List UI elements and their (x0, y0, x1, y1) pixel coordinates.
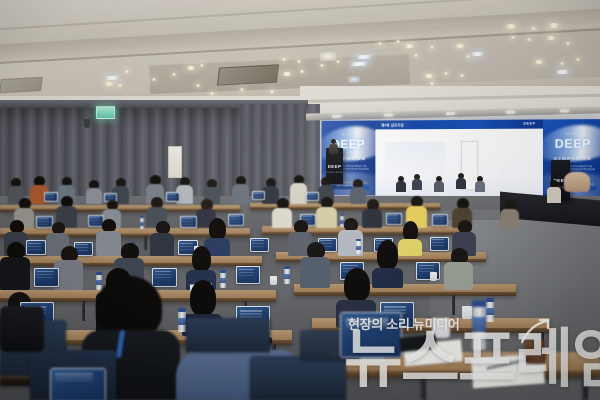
audience-person (232, 176, 249, 204)
ceiling-vent (0, 77, 43, 93)
speaker-at-podium (329, 139, 338, 153)
podium-left-sub: SYMPOSIUM (326, 172, 343, 174)
front-row-person (434, 176, 444, 192)
audience-person (372, 240, 403, 288)
audience-person (0, 242, 30, 290)
conference-hall-photo: 4th 2025 DEEP SYMPOSIUM ELECTRONIC DEVIC… (0, 0, 600, 400)
audience-person (316, 197, 337, 228)
audience-person (362, 199, 382, 228)
audience-person (86, 180, 102, 204)
slide-header-title: 제4회 심포지엄 (381, 122, 404, 127)
wall-speaker (84, 119, 90, 128)
screen-right-date: 4th 2025 (543, 132, 600, 136)
audience-person (444, 248, 473, 290)
wall-panel (168, 146, 182, 178)
exit-sign (96, 106, 115, 119)
front-row-person (475, 176, 485, 192)
audience-person (290, 175, 307, 204)
slide-header-logo: DEEP (523, 122, 535, 126)
chair (186, 318, 270, 352)
front-row-person (396, 176, 406, 192)
audience-person (500, 200, 519, 228)
screen-right-brand: DEEP (543, 138, 600, 150)
front-row-person (456, 173, 466, 189)
chair (250, 356, 346, 400)
tablet-monitor (50, 368, 106, 400)
bag (0, 306, 44, 352)
stage-prop (564, 172, 590, 192)
audience-person (150, 221, 174, 256)
front-row-person (412, 174, 422, 190)
screen-left-date: 4th 2025 (322, 133, 376, 137)
podium-left-logo: DEEP (326, 164, 343, 169)
front-row-person (547, 180, 561, 202)
watermark-large-text: 뉴스프레임 (344, 327, 600, 391)
ceiling-vent (217, 64, 279, 85)
audience-person (300, 242, 330, 288)
